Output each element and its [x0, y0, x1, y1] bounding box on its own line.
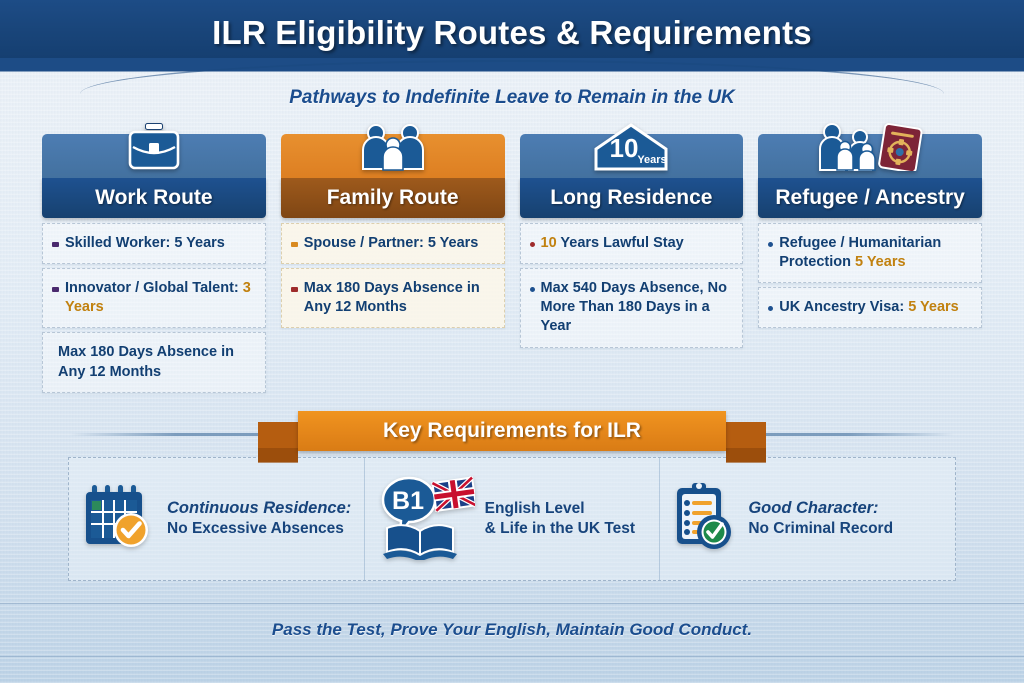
requirement-text: Good Character: No Criminal Record [748, 498, 893, 538]
route-title: Long Residence [550, 186, 712, 210]
requirement-english-test[interactable]: B1 English Level & Life in the UK Test [365, 458, 661, 580]
route-cards-row: Work Route Skilled Worker: 5 Years Innov… [0, 134, 1024, 397]
requirements-row: Continuous Residence: No Excessive Absen… [68, 457, 956, 581]
route-card-family[interactable]: Family Route Spouse / Partner: 5 Years M… [281, 134, 505, 332]
list-item: Skilled Worker: 5 Years [42, 223, 266, 264]
footer-tagline: Pass the Test, Prove Your English, Maint… [272, 620, 752, 640]
requirement-title: Continuous Residence: [167, 498, 351, 519]
refugee-family-passport-icon [816, 123, 924, 176]
card-header: Work Route [42, 178, 266, 218]
list-item-text: 10 Years Lawful Stay [541, 234, 684, 253]
list-item-text: UK Ancestry Visa: 5 Years [779, 298, 959, 317]
card-header: Long Residence [520, 178, 744, 218]
card-icon-strip [281, 134, 505, 178]
route-title: Family Route [327, 186, 459, 210]
card-icon-strip [42, 134, 266, 178]
list-item-text: Max 180 Days Absence in Any 12 Months [304, 279, 494, 317]
bullet-icon [291, 242, 298, 247]
route-card-body: Spouse / Partner: 5 Years Max 180 Days A… [281, 223, 505, 328]
route-card-refugee-ancestry[interactable]: Refugee / Ancestry Refugee / Humanitaria… [758, 134, 982, 332]
route-title: Refugee / Ancestry [775, 186, 964, 210]
list-item-text: Max 540 Days Absence, No More Than 180 D… [541, 279, 733, 336]
bullet-icon [52, 242, 59, 247]
list-item-text: Refugee / Humanitarian Protection 5 Year… [779, 234, 971, 272]
bullet-icon [52, 287, 59, 292]
list-item: Max 180 Days Absence in Any 12 Months [42, 332, 266, 392]
header-band: ILR Eligibility Routes & Requirements [0, 0, 1024, 66]
b1-badge-label: B1 [392, 487, 424, 515]
route-title: Work Route [95, 186, 212, 210]
requirement-subtitle: & Life in the UK Test [485, 519, 635, 539]
list-item: Spouse / Partner: 5 Years [281, 223, 505, 264]
requirement-good-character[interactable]: Good Character: No Criminal Record [660, 458, 955, 580]
list-item: 10 Years Lawful Stay [520, 223, 744, 264]
family-icon [356, 123, 430, 176]
requirement-title: Good Character: [748, 498, 893, 519]
list-item: UK Ancestry Visa: 5 Years [758, 287, 982, 328]
ribbon-label: Key Requirements for ILR [383, 419, 641, 443]
requirement-subtitle: No Excessive Absences [167, 519, 351, 539]
requirement-title: English Level [485, 499, 635, 519]
requirement-subtitle: No Criminal Record [748, 519, 893, 539]
svg-text:10: 10 [610, 133, 639, 163]
briefcase-icon [124, 123, 184, 176]
bullet-icon [291, 287, 298, 292]
house-10-years-icon: 10 Years [586, 123, 676, 176]
infographic-root: ILR Eligibility Routes & Requirements Pa… [0, 0, 1024, 683]
list-item-text: Max 180 Days Absence in Any 12 Months [58, 343, 255, 381]
requirement-text: Continuous Residence: No Excessive Absen… [167, 498, 351, 538]
footer-band: Pass the Test, Prove Your English, Maint… [0, 603, 1024, 657]
route-card-body: Refugee / Humanitarian Protection 5 Year… [758, 223, 982, 328]
list-item-text: Innovator / Global Talent: 3 Years [65, 279, 255, 317]
bullet-icon [530, 242, 535, 247]
ribbon-banner: Key Requirements for ILR [298, 411, 726, 451]
bullet-icon [768, 242, 773, 247]
route-card-body: 10 Years Lawful Stay Max 540 Days Absenc… [520, 223, 744, 348]
card-header: Refugee / Ancestry [758, 178, 982, 218]
page-title: ILR Eligibility Routes & Requirements [212, 14, 812, 52]
bullet-icon [530, 287, 535, 292]
requirement-text: English Level & Life in the UK Test [485, 499, 635, 538]
list-item: Innovator / Global Talent: 3 Years [42, 268, 266, 328]
svg-text:Years: Years [638, 154, 667, 166]
key-requirements-ribbon: Key Requirements for ILR [0, 411, 1024, 453]
route-card-long-residence[interactable]: 10 Years Long Residence 10 Years Lawful … [520, 134, 744, 352]
list-item: Max 180 Days Absence in Any 12 Months [281, 268, 505, 328]
b1-speech-book-uk-flag-icon: B1 [377, 472, 475, 565]
calendar-check-icon [81, 480, 157, 557]
card-icon-strip [758, 134, 982, 178]
bullet-icon [768, 306, 773, 311]
clipboard-check-icon [672, 480, 738, 557]
card-header: Family Route [281, 178, 505, 218]
subtitle-wrap: Pathways to Indefinite Leave to Remain i… [0, 72, 1024, 124]
route-card-work[interactable]: Work Route Skilled Worker: 5 Years Innov… [42, 134, 266, 397]
list-item: Max 540 Days Absence, No More Than 180 D… [520, 268, 744, 347]
route-card-body: Skilled Worker: 5 Years Innovator / Glob… [42, 223, 266, 393]
list-item-text: Skilled Worker: 5 Years [65, 234, 225, 253]
card-icon-strip: 10 Years [520, 134, 744, 178]
list-item: Refugee / Humanitarian Protection 5 Year… [758, 223, 982, 283]
page-subtitle: Pathways to Indefinite Leave to Remain i… [289, 87, 735, 109]
requirement-continuous-residence[interactable]: Continuous Residence: No Excessive Absen… [69, 458, 365, 580]
list-item-text: Spouse / Partner: 5 Years [304, 234, 479, 253]
